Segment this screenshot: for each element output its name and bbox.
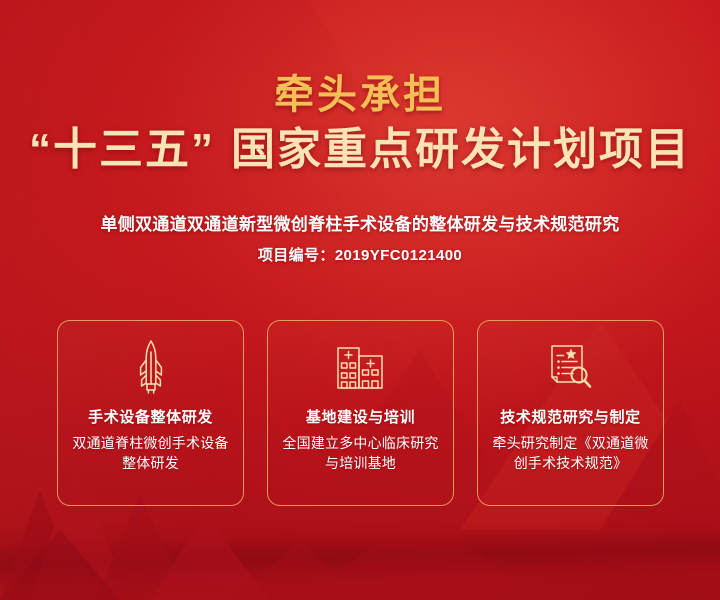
card-title: 手术设备整体研发 bbox=[88, 406, 213, 427]
project-number: 项目编号：2019YFC0121400 bbox=[0, 244, 720, 265]
card-title: 基地建设与培训 bbox=[306, 406, 415, 427]
card-description: 牵头研究制定《双通道微创手术技术规范》 bbox=[488, 434, 654, 474]
title-line-1: 牵头承担 bbox=[0, 74, 720, 117]
feature-card[interactable]: 基地建设与培训 全国建立多中心临床研究与培训基地 bbox=[267, 320, 454, 506]
feature-card[interactable]: 手术设备整体研发 双通道脊柱微创手术设备整体研发 bbox=[57, 320, 244, 506]
hospital-building-icon bbox=[335, 340, 387, 394]
title-line-2: “十三五”国家重点研发计划项目 bbox=[0, 126, 720, 174]
card-description: 双通道脊柱微创手术设备整体研发 bbox=[68, 434, 234, 474]
card-title: 技术规范研究与制定 bbox=[500, 406, 640, 427]
poster-banner: 牵头承担 “十三五”国家重点研发计划项目 单侧双通道双通道新型微创脊柱手术设备的… bbox=[0, 0, 720, 600]
rocket-icon bbox=[125, 340, 177, 394]
document-magnifier-icon bbox=[545, 340, 597, 394]
feature-card-list: 手术设备整体研发 双通道脊柱微创手术设备整体研发 bbox=[57, 320, 664, 506]
project-subtitle: 单侧双通道双通道新型微创脊柱手术设备的整体研发与技术规范研究 bbox=[0, 210, 720, 235]
card-description: 全国建立多中心临床研究与培训基地 bbox=[278, 434, 444, 474]
header-titles: 牵头承担 “十三五”国家重点研发计划项目 bbox=[0, 74, 720, 175]
feature-card[interactable]: 技术规范研究与制定 牵头研究制定《双通道微创手术技术规范》 bbox=[477, 320, 664, 506]
title-quoted-term: “十三五” bbox=[29, 125, 215, 174]
title-line-2-rest: 国家重点研发计划项目 bbox=[231, 125, 691, 174]
